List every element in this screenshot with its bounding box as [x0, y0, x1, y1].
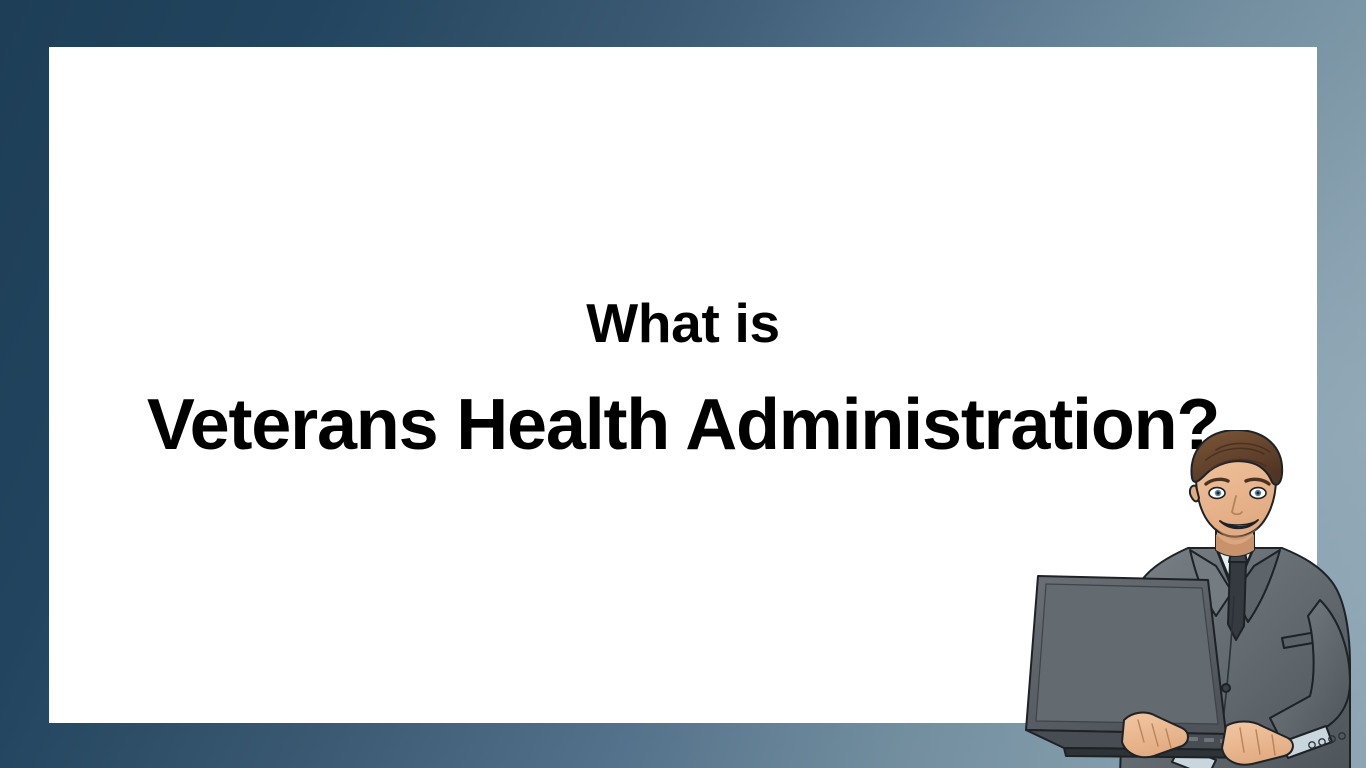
- title-line-2: Veterans Health Administration?: [49, 382, 1317, 468]
- slide-canvas: What is Veterans Health Administration?: [0, 0, 1366, 768]
- title-line-1: What is: [49, 290, 1317, 356]
- content-panel: What is Veterans Health Administration?: [49, 47, 1317, 723]
